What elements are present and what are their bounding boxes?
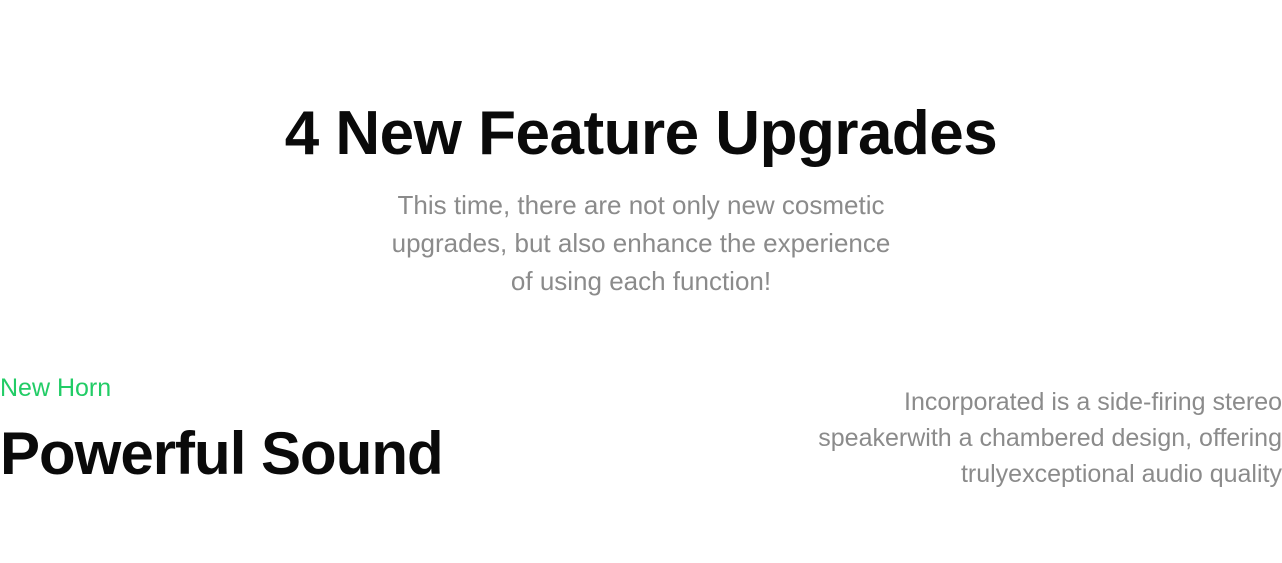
- promo-page: 4 New Feature Upgrades This time, there …: [0, 0, 1282, 563]
- feature-section: New Horn Powerful Sound Incorporated is …: [0, 372, 1282, 492]
- hero-subtitle: This time, there are not only new cosmet…: [0, 186, 1282, 300]
- feature-headline-group: New Horn Powerful Sound: [0, 372, 443, 488]
- feature-description-line-1: Incorporated is a side-firing stereo: [818, 384, 1282, 420]
- feature-description-group: Incorporated is a side-firing stereo spe…: [818, 384, 1282, 492]
- hero-subtitle-line-1: This time, there are not only new cosmet…: [0, 186, 1282, 224]
- hero-subtitle-line-2: upgrades, but also enhance the experienc…: [0, 224, 1282, 262]
- hero-subtitle-line-3: of using each function!: [0, 262, 1282, 300]
- feature-description-line-3: trulyexceptional audio quality: [818, 456, 1282, 492]
- hero-section: 4 New Feature Upgrades This time, there …: [0, 96, 1282, 300]
- feature-description: Incorporated is a side-firing stereo spe…: [818, 384, 1282, 492]
- feature-eyebrow-label: New Horn: [0, 372, 443, 404]
- feature-heading: Powerful Sound: [0, 420, 443, 488]
- page-title: 4 New Feature Upgrades: [0, 96, 1282, 172]
- feature-description-line-2: speakerwith a chambered design, offering: [818, 420, 1282, 456]
